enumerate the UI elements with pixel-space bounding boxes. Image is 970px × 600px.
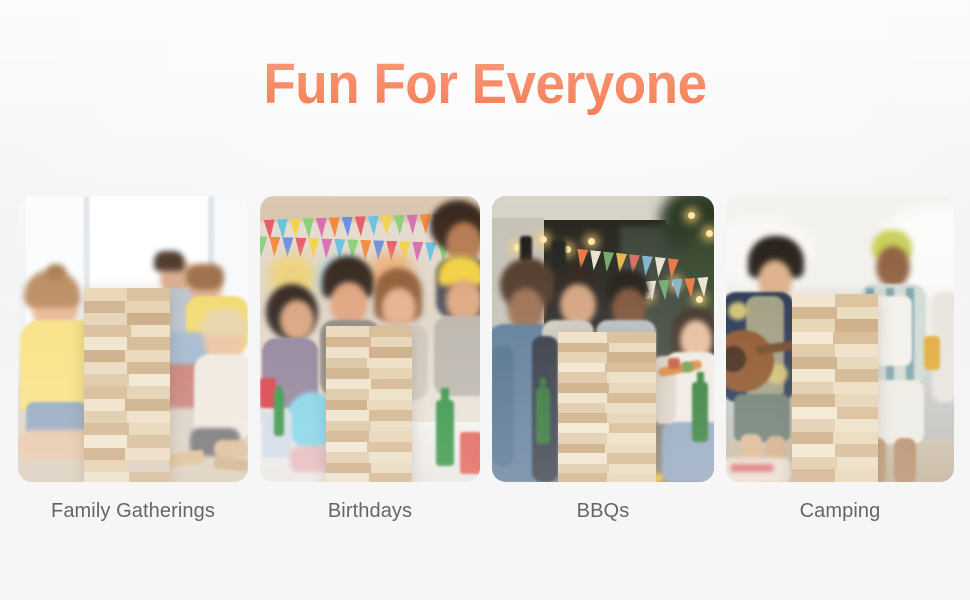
caption-bbqs: BBQs [492,492,714,532]
photo-birthdays [260,196,480,482]
gallery-card-bbqs [492,196,714,482]
photo-camping [726,196,954,482]
wooden-block-tower [792,294,878,482]
gallery-card-birthdays [260,196,480,482]
gallery-card-camping [726,196,954,482]
gallery-captions: Family Gatherings Birthdays BBQs Camping [18,492,952,532]
photo-bbqs [492,196,714,482]
image-gallery [18,196,952,482]
caption-family-gatherings: Family Gatherings [18,492,248,532]
wooden-block-tower [326,326,412,482]
photo-family-gatherings [18,196,248,482]
wooden-block-tower [84,288,170,482]
caption-camping: Camping [726,492,954,532]
page-title: Fun For Everyone [34,52,936,116]
caption-birthdays: Birthdays [260,492,480,532]
gallery-card-family-gatherings [18,196,248,482]
promo-banner: Fun For Everyone [0,0,970,600]
wooden-block-tower [558,332,656,482]
